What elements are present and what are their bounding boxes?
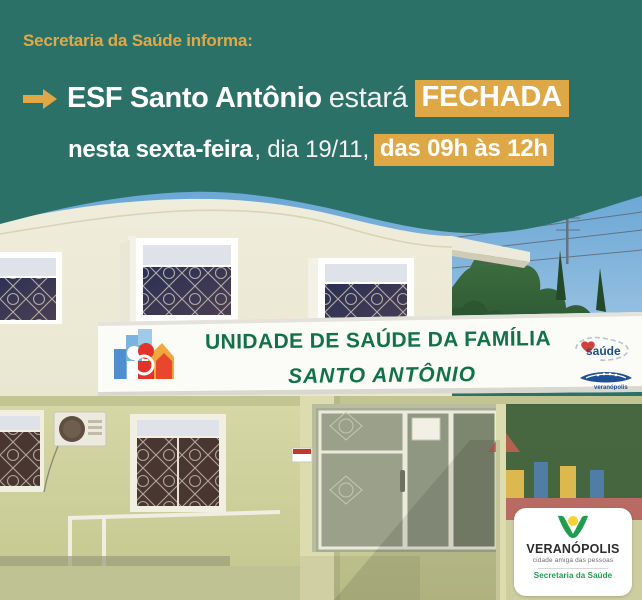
veranopolis-badge: VERANÓPOLIS cidade amiga das pessoas Sec… <box>514 508 632 596</box>
badge-department: Secretaria da Saúde <box>534 572 612 580</box>
subline-day: nesta sexta-feira <box>68 136 252 164</box>
badge-city-name: VERANÓPOLIS <box>526 543 619 556</box>
announcement-banner: Secretaria da Saúde informa: ESF Santo A… <box>0 0 642 200</box>
headline-unit-name: ESF Santo Antônio <box>67 82 322 115</box>
badge-tagline: cidade amiga das pessoas <box>533 558 613 564</box>
headline-verb: estará <box>329 82 408 115</box>
subline-time-highlight: das 09h às 12h <box>374 134 554 166</box>
arrow-right-icon <box>23 87 57 111</box>
banner-kicker: Secretaria da Saúde informa: <box>23 31 253 51</box>
headline-status-highlight: FECHADA <box>415 80 569 117</box>
headline: ESF Santo Antônio estará FECHADA <box>23 80 623 117</box>
veranopolis-v-logo-icon <box>556 514 590 540</box>
poster: UNIDADE DE SAÚDE DA FAMÍLIA SANTO ANTÔNI… <box>0 0 642 600</box>
badge-divider <box>538 568 608 569</box>
subline-date: , dia 19/11, <box>254 136 369 164</box>
sign-board <box>98 312 642 396</box>
subline: nesta sexta-feira , dia 19/11, das 09h à… <box>68 134 642 166</box>
